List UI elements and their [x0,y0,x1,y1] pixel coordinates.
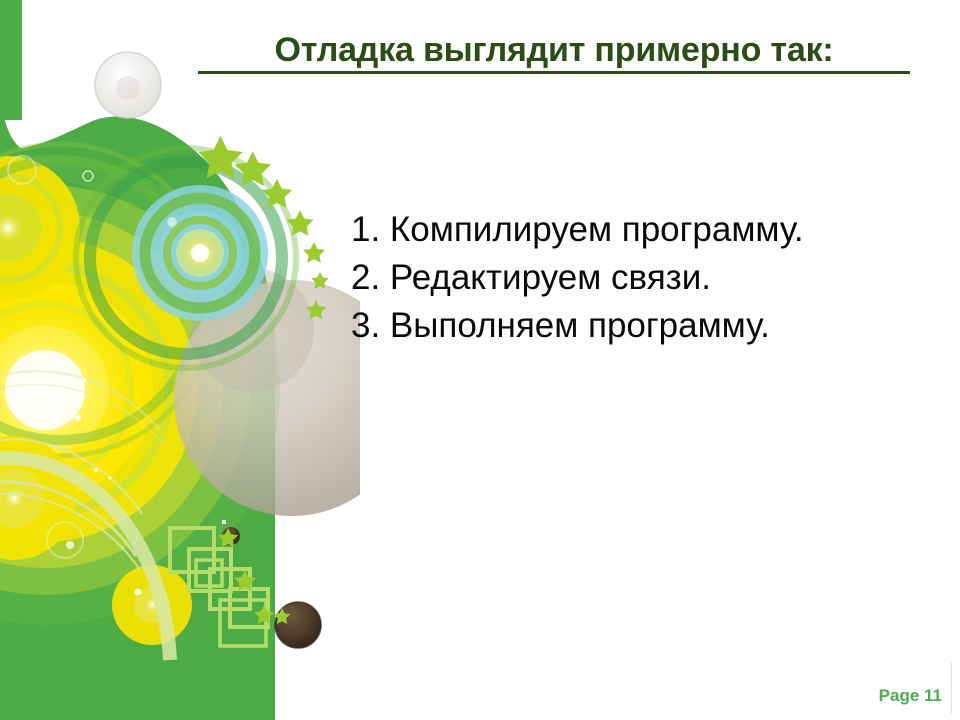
slide-canvas: Отладка выглядит примерно так: 1. Компил… [0,0,960,720]
star-arc [198,136,329,319]
list-item: 3. Выполняем программу. [351,302,931,350]
teal-ring-circle [132,185,268,321]
title-underline [198,71,910,74]
green-bar [0,0,22,120]
taupe-sphere [174,268,360,516]
square-staircase [170,528,268,646]
slide-footer: Page 11 [879,686,942,706]
concentric-yellow-circles [0,155,280,625]
decorative-graphic [0,0,360,720]
page-title: Отладка выглядит примерно так: [196,30,912,70]
list-item: 2. Редактируем связи. [351,254,931,302]
page-number-label: Page 11 [879,686,942,706]
grey-bubble [95,52,161,118]
pale-arcs [0,371,170,660]
content-list: 1. Компилируем программу. 2. Редактируем… [351,206,931,350]
mid-left-yellow-circle [0,436,76,560]
list-item: 1. Компилируем программу. [351,206,931,254]
staircase-stars [218,528,291,624]
green-panel [0,117,275,720]
lower-yellow-circle [112,565,192,645]
footer-divider [951,662,952,714]
upper-left-yellow-circle [0,156,80,300]
dark-brown-circles [222,527,321,648]
